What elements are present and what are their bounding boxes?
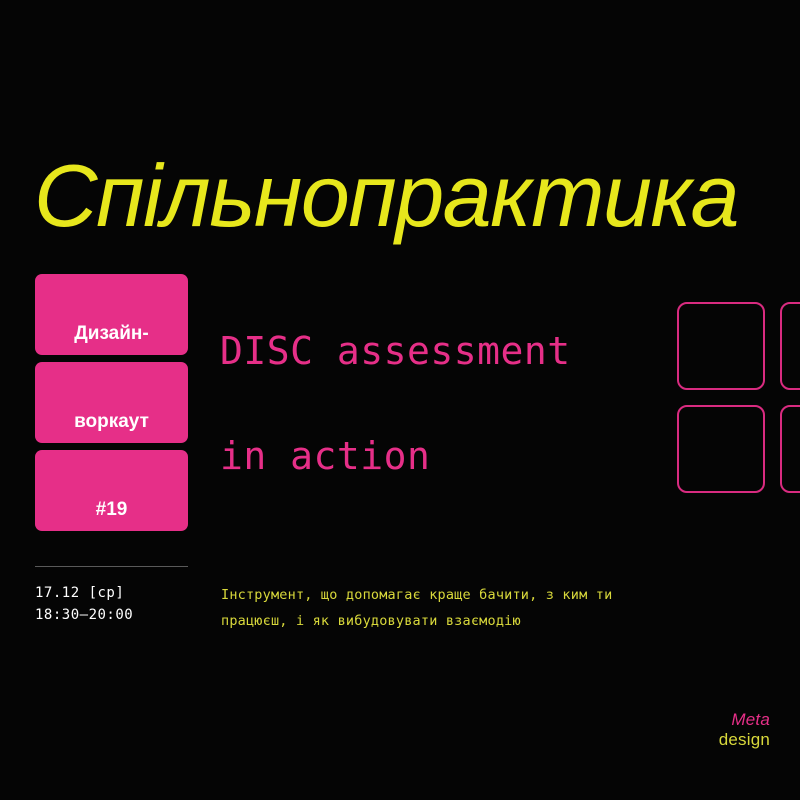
- brand-logo: Meta design: [719, 710, 770, 750]
- badge-label: Дизайн-: [74, 324, 148, 343]
- headline-line-1: DISC assessment: [220, 332, 571, 370]
- schedule-block: 17.12 [ср] 18:30—20:00: [35, 582, 133, 626]
- badge-designworkout-line1: Дизайн-: [35, 274, 188, 355]
- event-description: Інструмент, що допомагає краще бачити, з…: [221, 582, 711, 634]
- badge-label: воркаут: [74, 412, 149, 431]
- schedule-divider: [35, 566, 188, 567]
- headline-line-2: in action: [220, 437, 430, 475]
- decorative-square-1: [677, 302, 765, 390]
- badge-stack: Дизайн- воркаут #19: [35, 274, 188, 538]
- description-line-1: Інструмент, що допомагає краще бачити, з…: [221, 582, 711, 608]
- event-time: 18:30—20:00: [35, 604, 133, 626]
- badge-episode-number: #19: [35, 450, 188, 531]
- decorative-square-3: [677, 405, 765, 493]
- decorative-square-2: [780, 302, 800, 390]
- event-date: 17.12 [ср]: [35, 582, 133, 604]
- description-line-2: працюєш, і як вибудовувати взаємодію: [221, 608, 711, 634]
- event-poster: Спільнопрактика Дизайн- воркаут #19 DISC…: [0, 0, 800, 800]
- decorative-square-4: [780, 405, 800, 493]
- decorative-squares-grid: [677, 302, 800, 502]
- badge-designworkout-line2: воркаут: [35, 362, 188, 443]
- logo-meta-text: Meta: [719, 710, 770, 730]
- page-title: Спільнопрактика: [34, 152, 738, 240]
- logo-design-text: design: [719, 730, 770, 750]
- badge-label: #19: [96, 500, 128, 519]
